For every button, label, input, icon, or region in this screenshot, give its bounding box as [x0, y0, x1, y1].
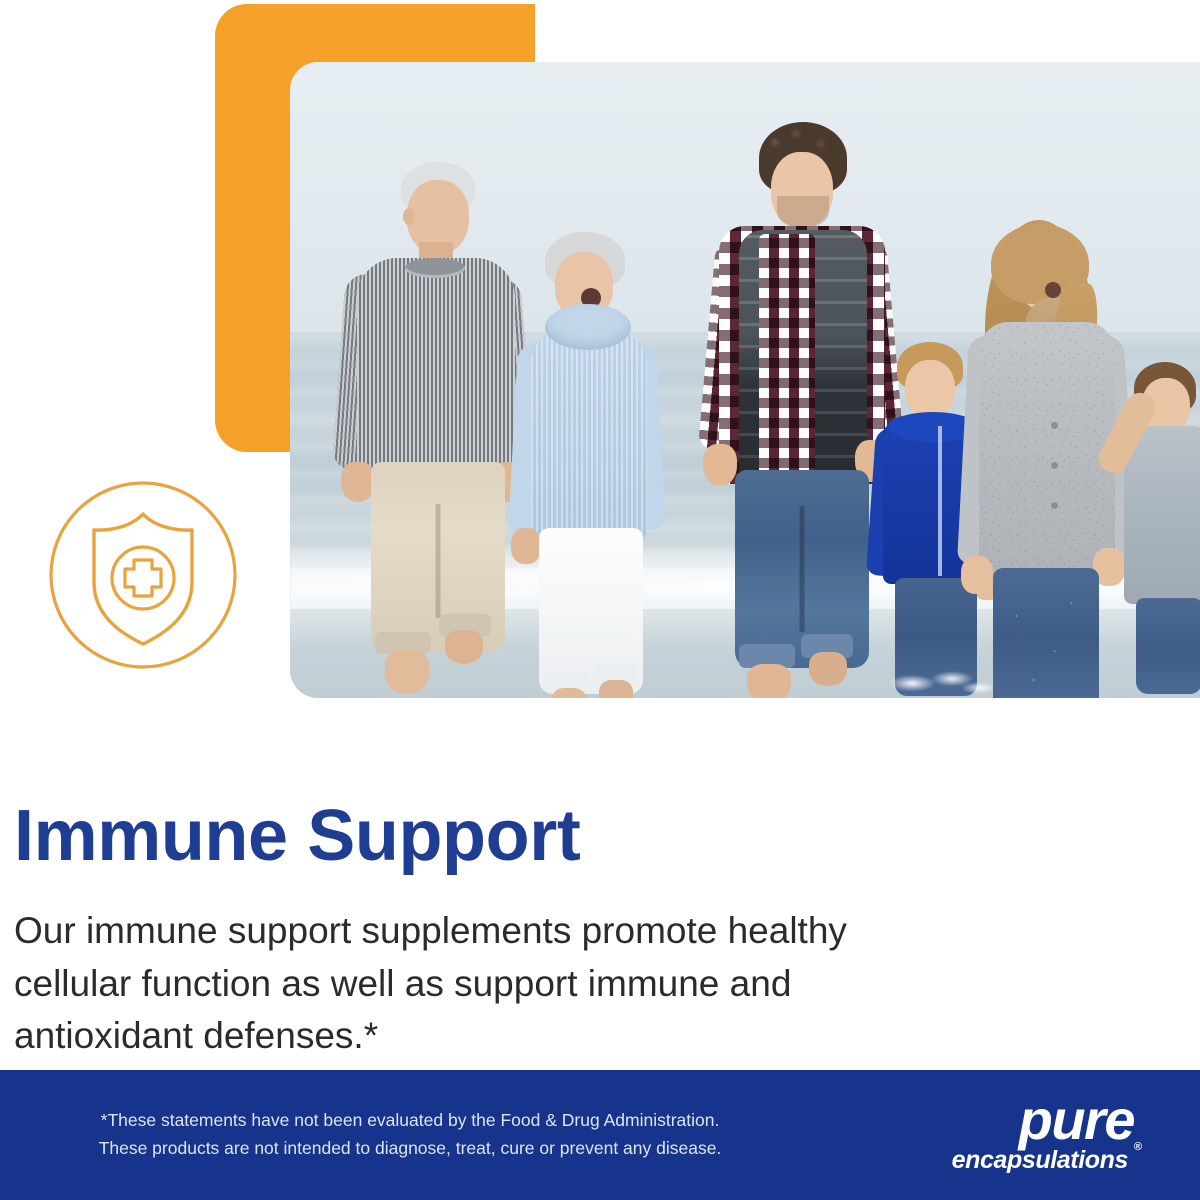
body-line-1: Our immune support supplements promote h…: [14, 905, 1084, 958]
child-jacket: [1124, 426, 1200, 604]
person-child: [1120, 362, 1200, 698]
senior-woman-foot-left: [551, 688, 587, 698]
adult-man-hand-left: [703, 444, 737, 486]
body-line-3: antioxidant defenses.*: [14, 1010, 1084, 1063]
logo-secondary-text: encapsulations: [952, 1148, 1128, 1173]
footer-bar: *These statements have not been evaluate…: [0, 1070, 1200, 1200]
body-line-2: cellular function as well as support imm…: [14, 958, 1084, 1011]
woman-cardigan: [979, 322, 1115, 580]
page-root: Immune Support Our immune support supple…: [0, 0, 1200, 1200]
senior-woman-cowl-collar: [545, 304, 631, 350]
logo-primary-text: pure: [1019, 1092, 1134, 1148]
registered-trademark-icon: ®: [1134, 1142, 1142, 1153]
fda-disclaimer: *These statements have not been evaluate…: [40, 1106, 780, 1163]
woman-hand-left: [961, 556, 993, 594]
brand-logo: pure encapsulations ®: [914, 1096, 1144, 1180]
woman-jeans: [993, 568, 1099, 698]
adult-man-shirt-front: [759, 234, 815, 478]
woman-button-2: [1051, 462, 1058, 469]
senior-woman-foot-right: [599, 680, 633, 698]
adult-man-foot-right: [809, 652, 847, 686]
woman-button-1: [1051, 422, 1058, 429]
senior-man-foot-right: [445, 630, 483, 664]
disclaimer-line-1: *These statements have not been evaluate…: [40, 1106, 780, 1134]
senior-man-collar: [405, 258, 465, 278]
body-copy: Our immune support supplements promote h…: [14, 905, 1084, 1063]
senior-woman-hand-left: [511, 528, 541, 564]
adult-man-foot-left: [747, 664, 791, 698]
senior-man-hand-left: [341, 462, 375, 502]
disclaimer-line-2: These products are not intended to diagn…: [40, 1134, 780, 1162]
senior-woman-sweater: [531, 330, 647, 542]
senior-man-foot-left: [385, 650, 429, 694]
senior-man-ear: [403, 208, 415, 225]
page-title: Immune Support: [14, 800, 580, 872]
shield-medical-cross-icon: [46, 478, 240, 672]
hero-photo: [290, 62, 1200, 698]
woman-button-3: [1051, 502, 1058, 509]
adult-man-beard: [777, 196, 829, 228]
immune-shield-badge: [46, 478, 240, 672]
woman-mouth: [1045, 282, 1061, 298]
boy-head: [905, 360, 955, 418]
boy-hoodie-zipper: [938, 426, 942, 576]
person-senior-woman: [505, 232, 675, 698]
senior-man-sweater: [357, 258, 515, 478]
child-jeans: [1136, 598, 1200, 694]
